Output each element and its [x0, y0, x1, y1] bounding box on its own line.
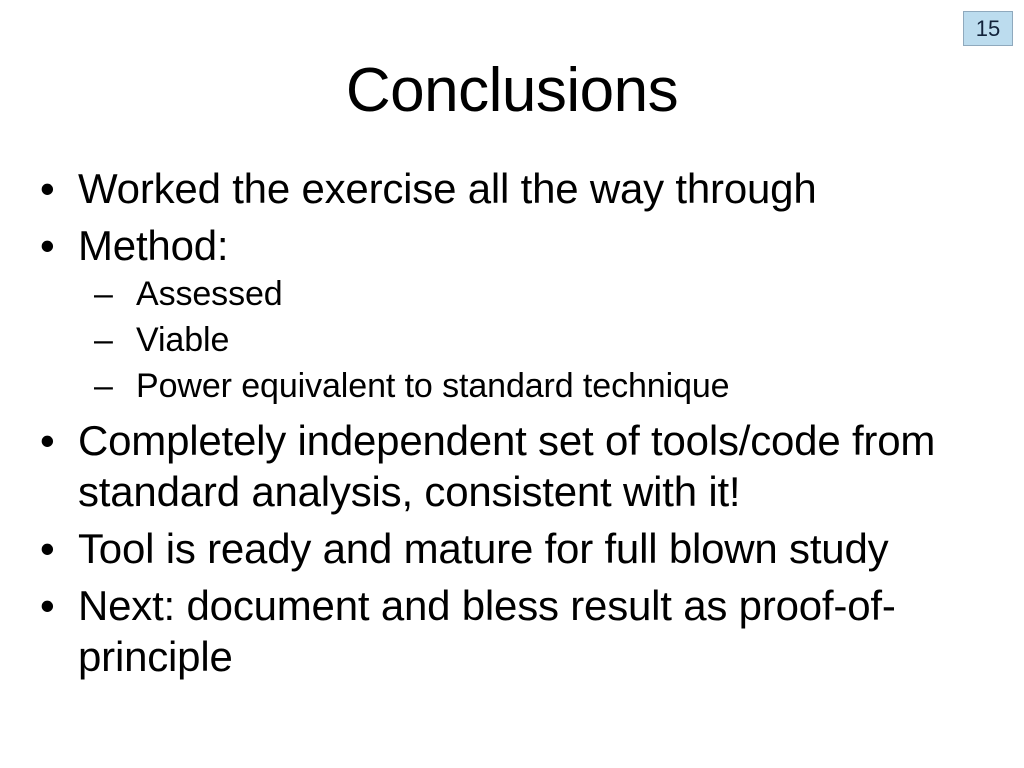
- list-item-text: Tool is ready and mature for full blown …: [78, 525, 888, 572]
- bullet-marker-icon: •: [40, 220, 55, 271]
- sub-list-item-text: Viable: [136, 321, 229, 359]
- slide: 15 Conclusions • Worked the exercise all…: [0, 0, 1024, 768]
- list-item-text: Completely independent set of tools/code…: [78, 417, 935, 515]
- list-item: • Tool is ready and mature for full blow…: [26, 523, 998, 574]
- list-item-text: Worked the exercise all the way through: [78, 165, 816, 212]
- sub-list-item: – Assessed: [92, 273, 998, 317]
- sub-bullet-list: – Assessed – Viable – Power equivalent t…: [92, 273, 998, 409]
- list-item: • Completely independent set of tools/co…: [26, 415, 998, 517]
- list-item: • Worked the exercise all the way throug…: [26, 163, 998, 214]
- slide-body: • Worked the exercise all the way throug…: [26, 163, 998, 688]
- sub-list-item: – Power equivalent to standard technique: [92, 365, 998, 409]
- list-item: • Next: document and bless result as pro…: [26, 580, 998, 682]
- bullet-marker-icon: •: [40, 163, 55, 214]
- sub-list-item-text: Power equivalent to standard technique: [136, 367, 730, 405]
- dash-marker-icon: –: [94, 273, 113, 317]
- page-number-label: 15: [976, 18, 1000, 40]
- dash-marker-icon: –: [94, 365, 113, 409]
- sub-bullet-wrapper: – Assessed – Viable – Power equivalent t…: [92, 273, 998, 409]
- list-item: • Method: – Assessed – Viable –: [26, 220, 998, 409]
- list-item-text: Next: document and bless result as proof…: [78, 582, 896, 680]
- bullet-list: • Worked the exercise all the way throug…: [26, 163, 998, 682]
- bullet-marker-icon: •: [40, 580, 55, 631]
- sub-list-item: – Viable: [92, 319, 998, 363]
- page-title: Conclusions: [0, 58, 1024, 123]
- list-item-text: Method:: [78, 222, 228, 269]
- page-number-badge: 15: [963, 11, 1013, 46]
- dash-marker-icon: –: [94, 319, 113, 363]
- sub-list-item-text: Assessed: [136, 275, 283, 313]
- bullet-marker-icon: •: [40, 523, 55, 574]
- bullet-marker-icon: •: [40, 415, 55, 466]
